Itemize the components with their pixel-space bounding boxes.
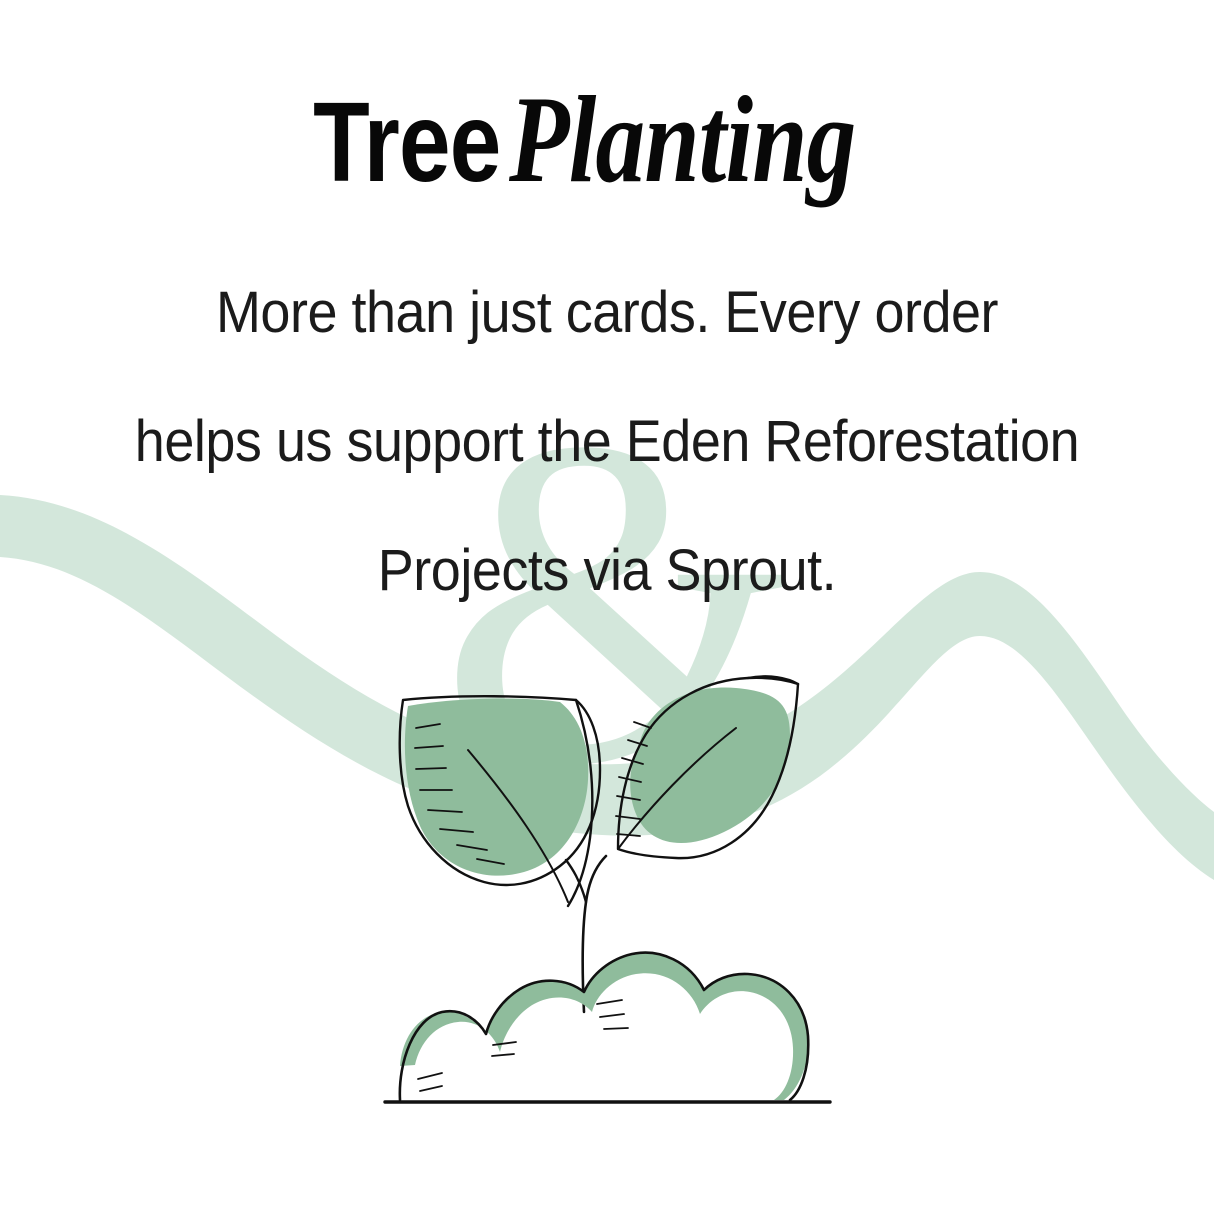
body-line-3: Projects via Sprout. [42,506,1171,635]
page-title: TreePlanting [0,78,1214,202]
title-word-italic: Planting [509,78,855,202]
body-copy: More than just cards. Every order helps … [0,248,1214,635]
text-content: TreePlanting More than just cards. Every… [0,0,1214,1214]
tree-planting-promo-card: & [0,0,1214,1214]
body-line-1: More than just cards. Every order [42,248,1171,377]
title-word-regular: Tree [313,86,500,199]
body-line-2: helps us support the Eden Reforestation [42,377,1171,506]
